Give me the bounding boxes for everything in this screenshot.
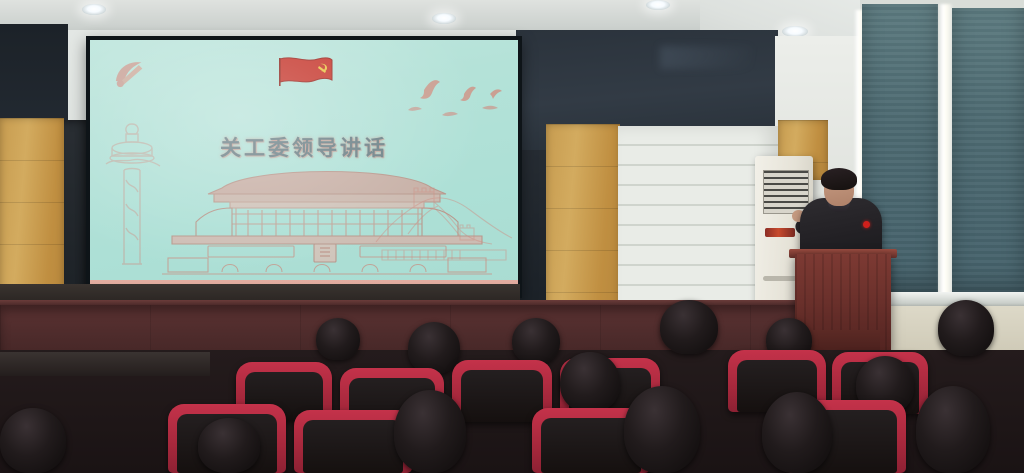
speaker-hair — [821, 168, 857, 190]
ac-display-panel[interactable] — [765, 228, 795, 237]
ac-outlet-slot — [763, 276, 799, 281]
party-flag-icon — [274, 54, 336, 92]
speaker-badge — [863, 221, 870, 228]
audience-head — [316, 318, 360, 360]
audience-head — [916, 386, 990, 473]
audience-head — [394, 390, 466, 473]
projection-screen: 关工委领导讲话 — [86, 36, 522, 298]
ac-vent-icon — [763, 170, 809, 214]
audience-head — [408, 322, 460, 374]
audience-head — [938, 300, 994, 356]
slatted-wall-panel — [618, 126, 778, 324]
auditorium-scene: 关工委领导讲话 — [0, 0, 1024, 473]
downlight-icon — [82, 4, 106, 15]
wood-panel-center — [546, 124, 620, 314]
doves-icon — [406, 70, 510, 126]
front-rail — [0, 352, 210, 376]
audience-head — [198, 418, 260, 473]
slide-title: 关工委领导讲话 — [90, 132, 518, 162]
audience-head — [762, 392, 832, 473]
audience-head — [624, 386, 700, 473]
audience-head — [0, 408, 66, 473]
hammer-sickle-emblem-icon — [112, 58, 148, 88]
great-wall-icon — [374, 180, 514, 280]
slide-surface: 关工委领导讲话 — [90, 40, 518, 294]
audience-head — [660, 300, 718, 354]
audience-head — [512, 318, 560, 364]
window-blind[interactable] — [952, 8, 1024, 298]
upper-dark-panel-left — [0, 24, 68, 124]
downlight-icon — [432, 13, 456, 24]
audience-head — [560, 352, 620, 412]
downlight-icon — [646, 0, 670, 10]
window-light-gap — [938, 4, 952, 296]
